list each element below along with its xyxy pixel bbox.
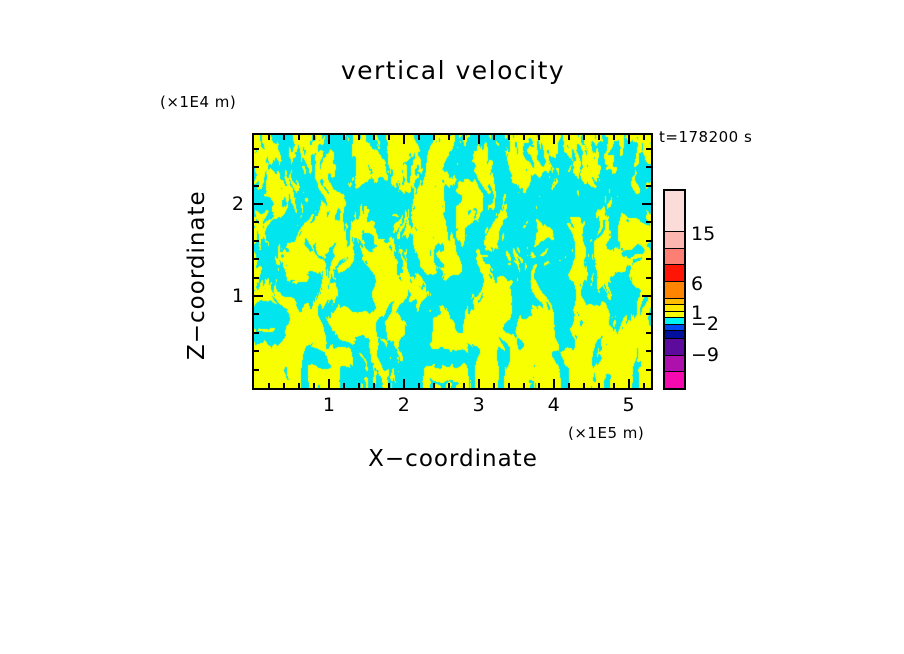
x-tick-label-1: 2 (398, 394, 410, 416)
x-tick-minor (313, 383, 315, 388)
y-tick-minor-right (646, 277, 651, 279)
colorbar-band-0 (665, 191, 684, 232)
y-tick-minor-right (646, 148, 651, 150)
y-tick-minor-right (646, 313, 651, 315)
y-tick-major-right-0 (642, 295, 651, 297)
x-tick-label-3: 4 (548, 394, 560, 416)
x-tick-minor-top (598, 135, 600, 140)
y-tick-minor (254, 148, 259, 150)
time-annotation: t=178200 s (659, 128, 752, 146)
y-tick-major-right-1 (642, 203, 651, 205)
x-tick-minor (643, 383, 645, 388)
x-tick-minor-top (448, 135, 450, 140)
y-tick-minor (254, 258, 259, 260)
y-tick-major-1 (254, 203, 263, 205)
y-tick-minor-right (646, 166, 651, 168)
colorbar-band-11 (665, 339, 684, 356)
page-title: vertical velocity (252, 56, 654, 85)
y-tick-minor (254, 277, 259, 279)
x-tick-minor (343, 383, 345, 388)
y-tick-minor-right (646, 350, 651, 352)
colorbar (663, 189, 686, 390)
x-tick-label-0: 1 (323, 394, 335, 416)
y-tick-major-0 (254, 295, 263, 297)
x-tick-minor (613, 383, 615, 388)
x-tick-minor (268, 383, 270, 388)
x-tick-minor-top (538, 135, 540, 140)
x-tick-major-top-3 (553, 135, 555, 144)
x-axis-unit-label: (×1E5 m) (568, 424, 644, 442)
y-tick-minor (254, 166, 259, 168)
x-tick-minor-top (508, 135, 510, 140)
y-tick-minor (254, 185, 259, 187)
x-tick-minor-top (613, 135, 615, 140)
x-tick-minor-top (493, 135, 495, 140)
colorbar-band-4 (665, 282, 684, 299)
x-tick-minor-top (643, 135, 645, 140)
x-tick-minor-top (358, 135, 360, 140)
x-tick-minor-top (283, 135, 285, 140)
x-tick-major-top-1 (403, 135, 405, 144)
x-tick-minor-top (373, 135, 375, 140)
y-tick-minor (254, 221, 259, 223)
colorbar-label-1: 6 (691, 273, 703, 295)
y-tick-label-1: 2 (222, 193, 244, 215)
x-tick-minor (493, 383, 495, 388)
x-tick-major-top-0 (328, 135, 330, 144)
x-tick-minor (523, 383, 525, 388)
colorbar-band-3 (665, 265, 684, 282)
x-tick-minor (298, 383, 300, 388)
x-tick-label-2: 3 (473, 394, 485, 416)
y-axis-title: Z−coordinate (185, 336, 385, 360)
x-tick-major-0 (328, 379, 330, 388)
colorbar-label-4: −9 (691, 344, 719, 366)
x-tick-minor (283, 383, 285, 388)
x-tick-minor (388, 383, 390, 388)
x-tick-minor (373, 383, 375, 388)
colorbar-band-1 (665, 232, 684, 249)
y-tick-minor (254, 240, 259, 242)
x-tick-minor (463, 383, 465, 388)
x-tick-minor-top (388, 135, 390, 140)
y-tick-minor-right (646, 258, 651, 260)
colorbar-band-10 (665, 331, 684, 339)
x-tick-minor-top (463, 135, 465, 140)
x-tick-minor (358, 383, 360, 388)
y-axis-unit-label: (×1E4 m) (160, 93, 236, 111)
x-tick-minor-top (343, 135, 345, 140)
y-tick-minor (254, 332, 259, 334)
colorbar-band-13 (665, 372, 684, 388)
y-tick-minor-right (646, 240, 651, 242)
x-tick-major-1 (403, 379, 405, 388)
x-tick-minor-top (568, 135, 570, 140)
x-tick-minor-top (433, 135, 435, 140)
x-tick-minor (508, 383, 510, 388)
x-tick-minor (568, 383, 570, 388)
x-tick-major-2 (478, 379, 480, 388)
x-tick-minor (433, 383, 435, 388)
colorbar-label-3: −2 (691, 313, 719, 335)
y-tick-minor (254, 369, 259, 371)
x-axis-title: X−coordinate (252, 446, 654, 472)
x-tick-minor-top (418, 135, 420, 140)
y-tick-minor-right (646, 369, 651, 371)
x-tick-major-4 (628, 379, 630, 388)
colorbar-label-0: 15 (691, 223, 715, 245)
x-tick-minor-top (313, 135, 315, 140)
y-tick-minor (254, 313, 259, 315)
x-tick-minor (418, 383, 420, 388)
colorbar-band-2 (665, 249, 684, 266)
x-tick-minor-top (583, 135, 585, 140)
x-tick-minor-top (268, 135, 270, 140)
x-tick-major-top-4 (628, 135, 630, 144)
x-tick-minor (448, 383, 450, 388)
x-tick-minor (538, 383, 540, 388)
x-tick-minor-top (523, 135, 525, 140)
x-tick-minor (598, 383, 600, 388)
x-tick-minor-top (298, 135, 300, 140)
x-tick-label-4: 5 (622, 394, 634, 416)
y-tick-minor-right (646, 185, 651, 187)
colorbar-band-12 (665, 356, 684, 373)
x-tick-major-3 (553, 379, 555, 388)
x-tick-minor (583, 383, 585, 388)
y-tick-minor-right (646, 221, 651, 223)
y-tick-minor-right (646, 332, 651, 334)
figure-root: vertical velocity (×1E4 m) t=178200 s 12… (0, 0, 904, 654)
y-tick-label-0: 1 (222, 285, 244, 307)
x-tick-major-top-2 (478, 135, 480, 144)
